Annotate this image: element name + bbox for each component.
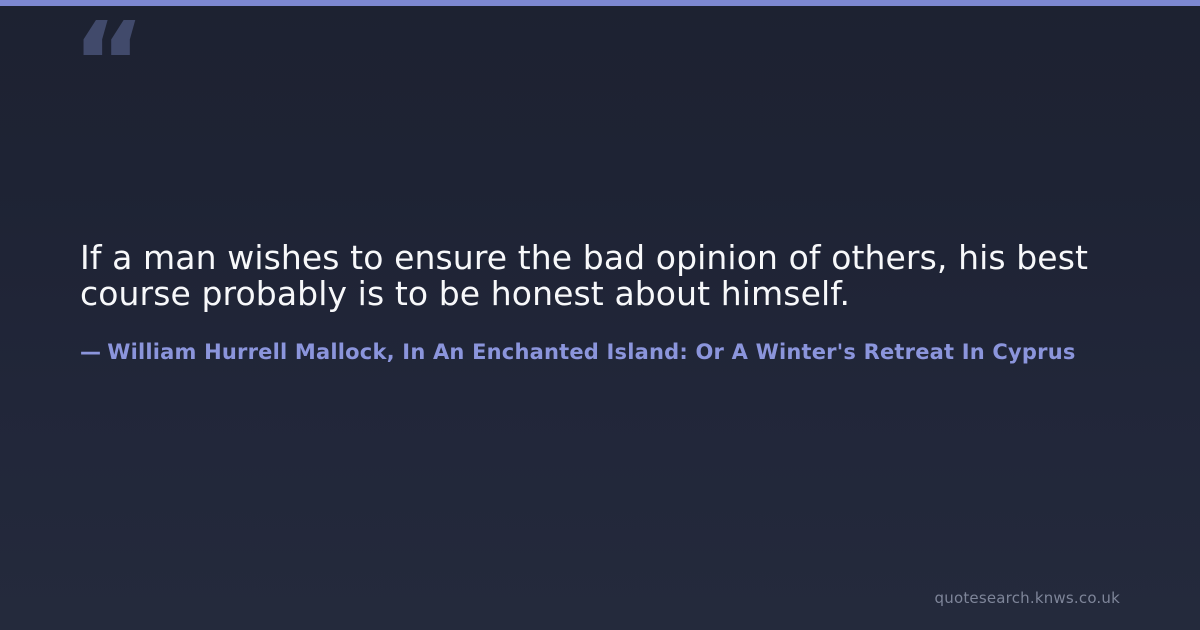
site-watermark: quotesearch.knws.co.uk bbox=[935, 588, 1120, 608]
top-accent-bar bbox=[0, 0, 1200, 6]
attribution: —William Hurrell Mallock, In An Enchante… bbox=[80, 338, 1200, 366]
quote-card: “ If a man wishes to ensure the bad opin… bbox=[0, 0, 1200, 630]
attribution-dash: — bbox=[80, 340, 101, 364]
quote-text: If a man wishes to ensure the bad opinio… bbox=[80, 240, 1090, 312]
open-quote-icon: “ bbox=[72, 8, 144, 120]
quote-block: If a man wishes to ensure the bad opinio… bbox=[80, 240, 1090, 312]
attribution-label: William Hurrell Mallock, In An Enchanted… bbox=[107, 340, 1075, 364]
